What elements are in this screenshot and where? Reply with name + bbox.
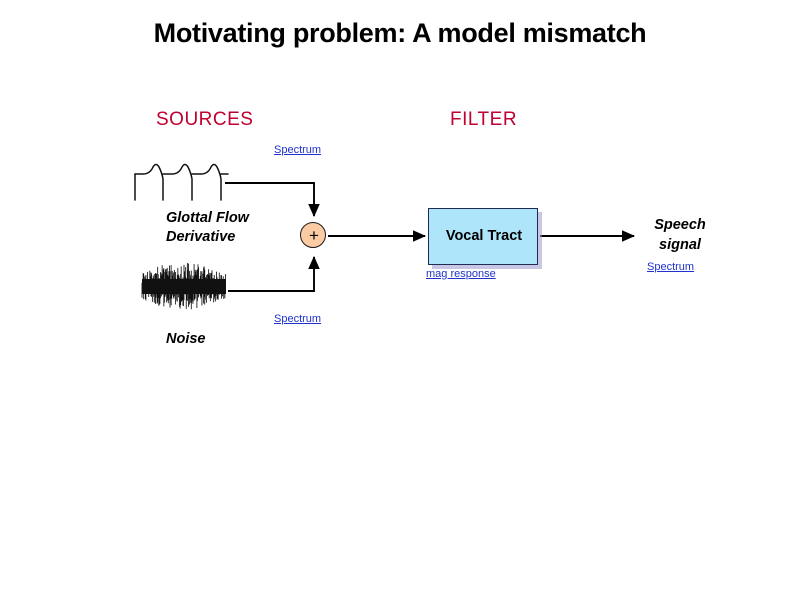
vocal-tract-label: Vocal Tract (429, 209, 539, 266)
glottal-label-line-2: Derivative (166, 228, 249, 247)
summing-junction[interactable]: + (300, 222, 328, 250)
speech-label-line-2: signal (645, 235, 715, 255)
speech-signal-label: Speech signal (645, 215, 715, 255)
noise-waveform (141, 258, 229, 314)
glottal-flow-derivative-waveform (134, 160, 229, 206)
glottal-flow-derivative-label: Glottal Flow Derivative (166, 209, 249, 247)
signal-flow-wiring (0, 0, 800, 599)
glottal-label-line-1: Glottal Flow (166, 209, 249, 228)
link-mag-response[interactable]: mag response (426, 268, 496, 280)
noise-label: Noise (166, 330, 206, 349)
plus-icon: + (300, 222, 328, 250)
speech-label-line-1: Speech (645, 215, 715, 235)
slide-canvas: Motivating problem: A model mismatch SOU… (0, 0, 800, 599)
wire-noise-to-sum (228, 257, 314, 291)
link-spectrum-noise[interactable]: Spectrum (274, 313, 321, 325)
link-spectrum-speech[interactable]: Spectrum (647, 261, 694, 273)
link-spectrum-glottal[interactable]: Spectrum (274, 144, 321, 156)
vocal-tract-block[interactable]: Vocal Tract (428, 208, 538, 265)
